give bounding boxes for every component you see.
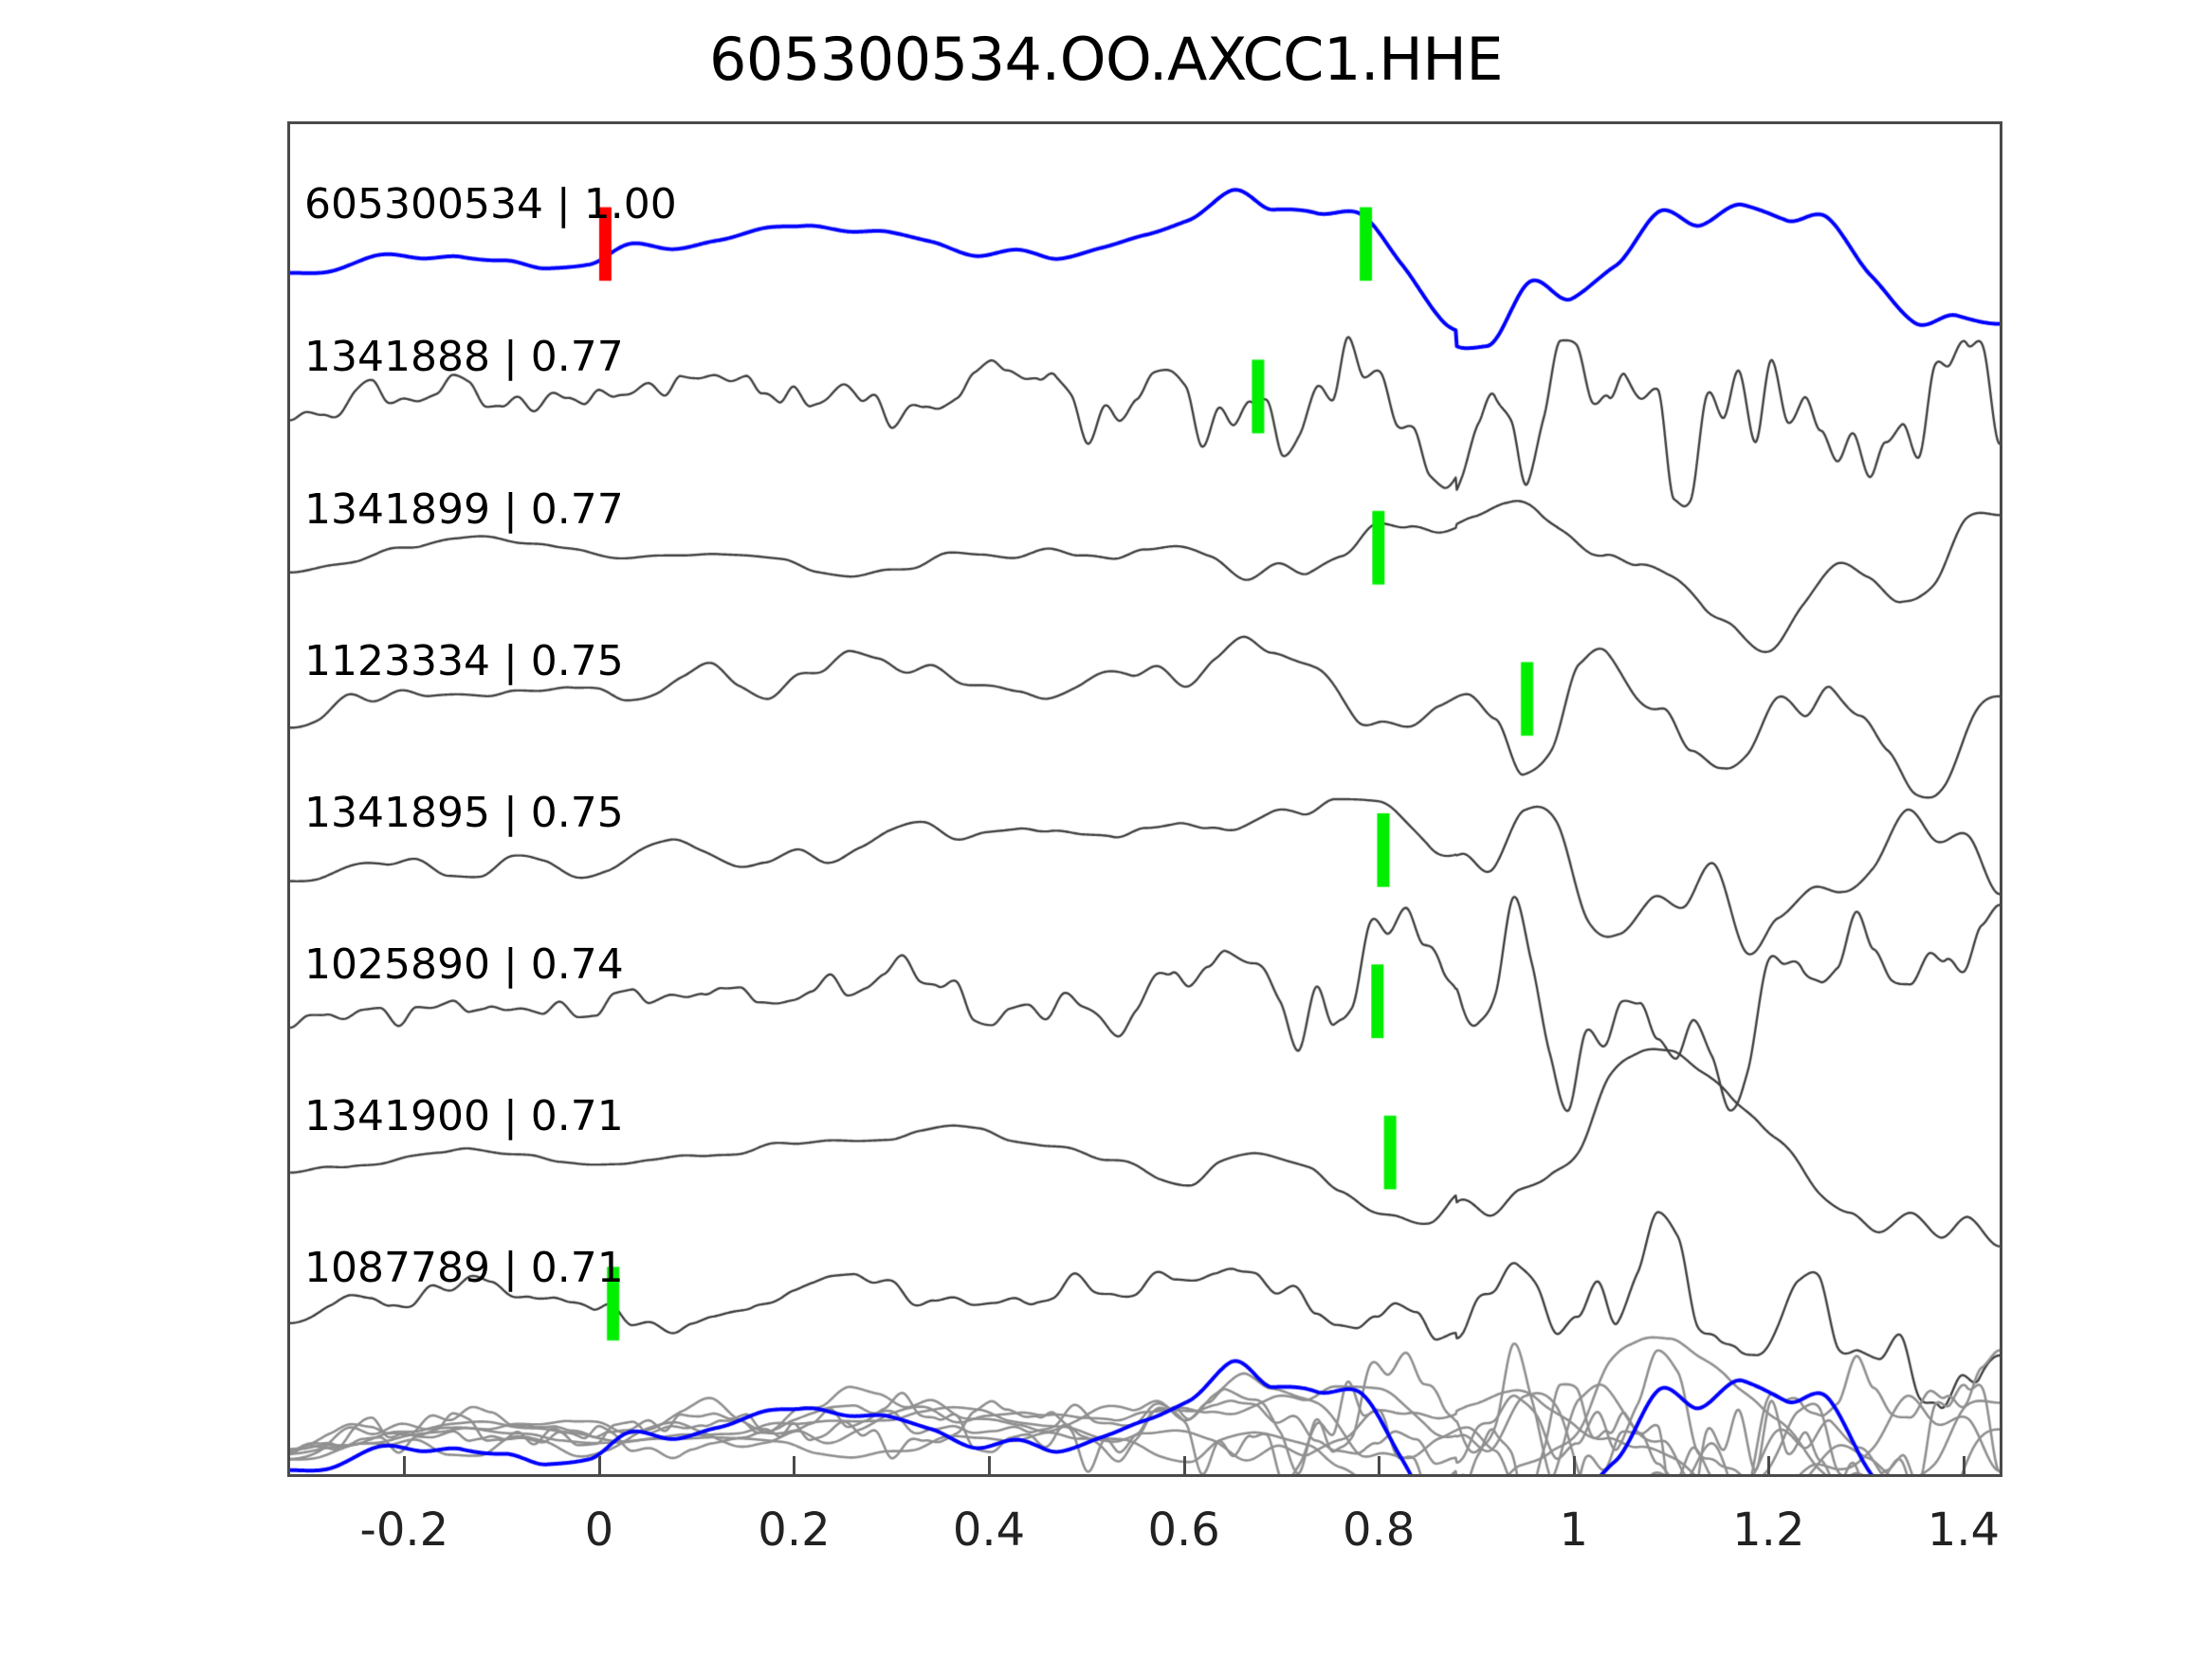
- x-tick-label: 0.8: [1343, 1504, 1415, 1557]
- x-tick-mark: [1767, 1456, 1770, 1477]
- x-tick-label: -0.2: [360, 1504, 449, 1557]
- trace-label-1341899: 1341899 | 0.77: [304, 485, 624, 534]
- trace-label-1087789: 1087789 | 0.71: [304, 1244, 624, 1292]
- trace-label-1123334: 1123334 | 0.75: [304, 637, 624, 685]
- x-tick-mark: [988, 1456, 991, 1477]
- x-tick-mark: [1573, 1456, 1576, 1477]
- x-tick-label: 1: [1559, 1504, 1588, 1557]
- x-tick-mark: [1183, 1456, 1186, 1477]
- page-title: 605300534.OO.AXCC1.HHE: [0, 25, 2212, 94]
- x-tick-mark: [1378, 1456, 1380, 1477]
- x-tick-mark: [403, 1456, 406, 1477]
- x-tick-mark: [1963, 1456, 1965, 1477]
- x-tick-label: 0: [585, 1504, 614, 1557]
- x-tick-label: 1.2: [1732, 1504, 1804, 1557]
- trace-label-1341888: 1341888 | 0.77: [304, 333, 624, 381]
- x-tick-label: 0.4: [953, 1504, 1025, 1557]
- trace-label-605300534: 605300534 | 1.00: [304, 180, 677, 228]
- trace-label-1341900: 1341900 | 0.71: [304, 1092, 624, 1140]
- x-tick-label: 1.4: [1928, 1504, 2000, 1557]
- x-tick-label: 0.6: [1147, 1504, 1219, 1557]
- figure-root: 605300534.OO.AXCC1.HHE 605300534 | 1.001…: [0, 0, 2212, 1659]
- trace-label-1341895: 1341895 | 0.75: [304, 789, 624, 837]
- trace-label-1025890: 1025890 | 0.74: [304, 940, 624, 989]
- x-tick-label: 0.2: [758, 1504, 830, 1557]
- x-tick-mark: [793, 1456, 795, 1477]
- x-tick-mark: [598, 1456, 601, 1477]
